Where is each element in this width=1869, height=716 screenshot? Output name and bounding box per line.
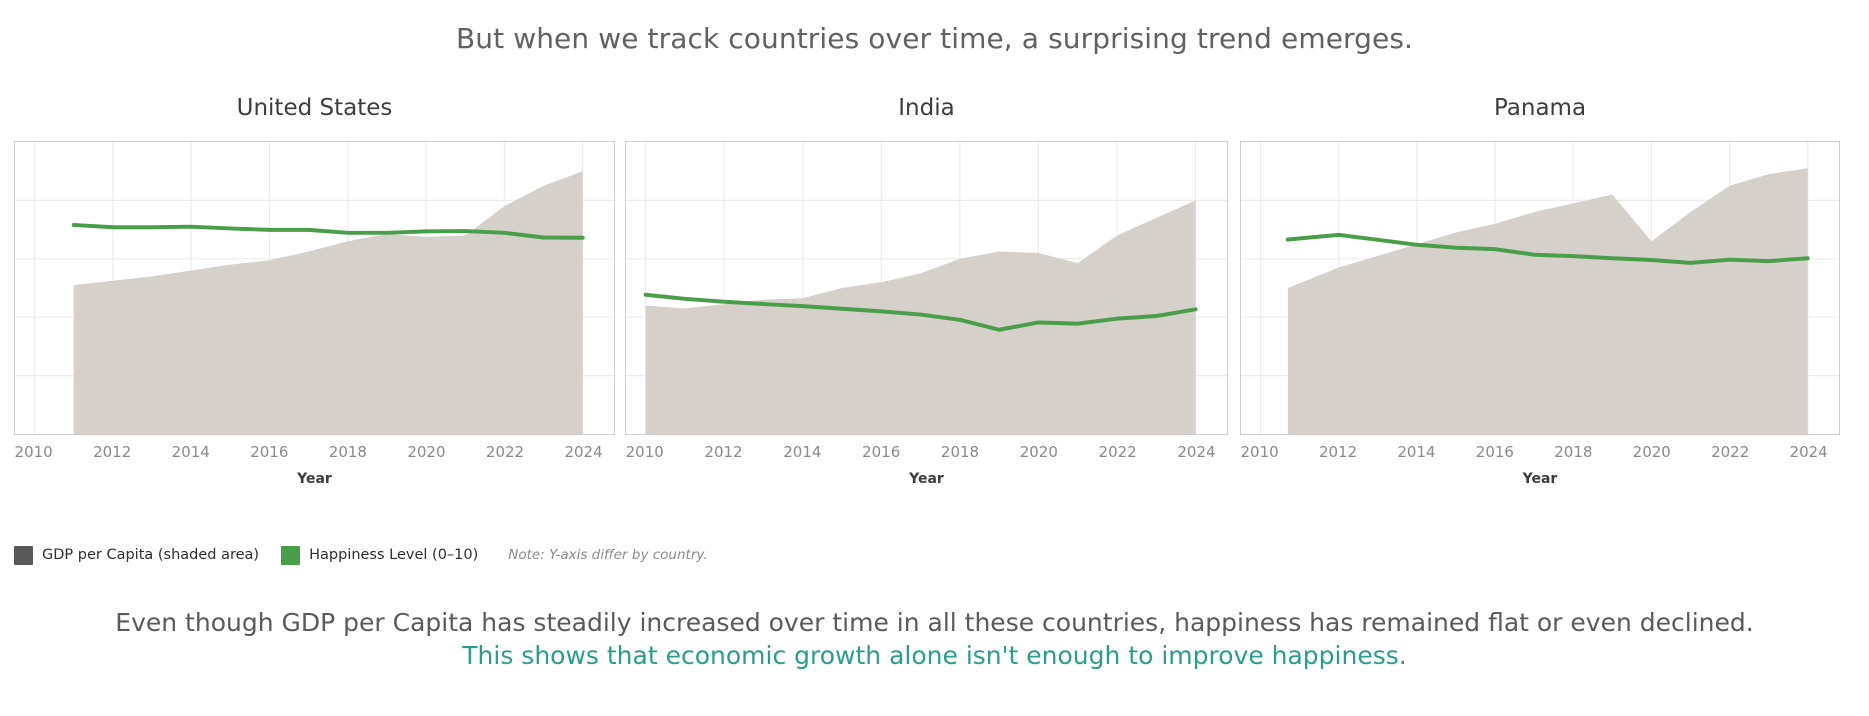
chart-panel-panama: Panama20102012201420162018202020222024Ye… — [1240, 95, 1840, 455]
x-tick-label: 2022 — [1711, 443, 1749, 461]
x-tick-label: 2016 — [1476, 443, 1514, 461]
x-axis-label: Year — [625, 471, 1228, 487]
plot-area — [1240, 141, 1840, 435]
legend-note: Note: Y-axis differ by country. — [508, 547, 707, 563]
x-tick-label: 2018 — [1554, 443, 1592, 461]
x-tick-label: 2024 — [1177, 443, 1215, 461]
caption-line-1: Even though GDP per Capita has steadily … — [0, 608, 1869, 637]
x-tick-label: 2012 — [704, 443, 742, 461]
x-tick-label: 2020 — [1633, 443, 1671, 461]
x-tick-label: 2022 — [1099, 443, 1137, 461]
gdp-color-swatch — [14, 546, 33, 565]
legend-item-happiness: Happiness Level (0–10) — [281, 546, 478, 565]
x-axis-ticks: 20102012201420162018202020222024 — [1240, 443, 1840, 465]
x-axis-ticks: 20102012201420162018202020222024 — [14, 443, 615, 465]
x-tick-label: 2020 — [407, 443, 445, 461]
plot-area — [625, 141, 1228, 435]
x-tick-label: 2014 — [1397, 443, 1435, 461]
gdp-area-series — [1288, 168, 1808, 434]
x-tick-label: 2012 — [1319, 443, 1357, 461]
x-tick-label: 2018 — [941, 443, 979, 461]
chart-panel-united-states: United States201020122014201620182020202… — [14, 95, 615, 455]
caption-line-2: This shows that economic growth alone is… — [0, 641, 1869, 670]
happiness-color-swatch — [281, 546, 300, 565]
gdp-area-series — [74, 171, 583, 434]
x-tick-label: 2018 — [329, 443, 367, 461]
legend-label-gdp: GDP per Capita (shaded area) — [42, 547, 259, 563]
x-tick-label: 2022 — [486, 443, 524, 461]
panel-title: India — [625, 95, 1228, 121]
x-tick-label: 2020 — [1020, 443, 1058, 461]
x-axis-ticks: 20102012201420162018202020222024 — [625, 443, 1228, 465]
x-tick-label: 2010 — [626, 443, 664, 461]
x-tick-label: 2014 — [783, 443, 821, 461]
x-tick-label: 2010 — [1241, 443, 1279, 461]
x-tick-label: 2024 — [564, 443, 602, 461]
x-tick-label: 2014 — [172, 443, 210, 461]
x-axis-label: Year — [14, 471, 615, 487]
panel-title: United States — [14, 95, 615, 121]
x-tick-label: 2010 — [15, 443, 53, 461]
panel-title: Panama — [1240, 95, 1840, 121]
x-tick-label: 2012 — [93, 443, 131, 461]
chart-panel-india: India20102012201420162018202020222024Yea… — [625, 95, 1228, 455]
legend-item-gdp: GDP per Capita (shaded area) — [14, 546, 259, 565]
x-tick-label: 2016 — [250, 443, 288, 461]
plot-area — [14, 141, 615, 435]
x-tick-label: 2024 — [1790, 443, 1828, 461]
x-axis-label: Year — [1240, 471, 1840, 487]
chart-legend: GDP per Capita (shaded area) Happiness L… — [14, 542, 708, 568]
chart-panels: United States201020122014201620182020202… — [0, 95, 1869, 455]
legend-label-happiness: Happiness Level (0–10) — [309, 547, 478, 563]
page-title: But when we track countries over time, a… — [0, 22, 1869, 55]
x-tick-label: 2016 — [862, 443, 900, 461]
